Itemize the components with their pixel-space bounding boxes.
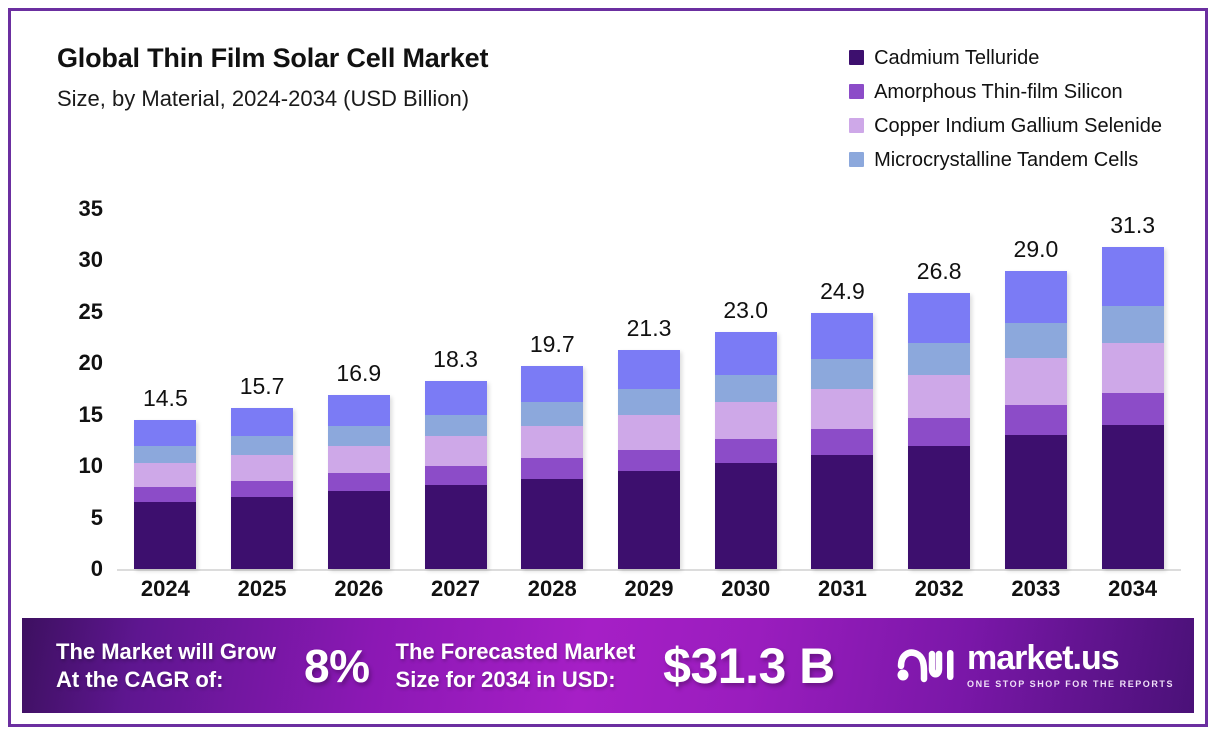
bar-segment[interactable] [134,487,196,502]
bar-column[interactable]: 18.3 [425,381,487,569]
bar-column[interactable]: 16.9 [328,395,390,569]
axis-baseline [117,569,1181,571]
legend-item-label: Cadmium Telluride [874,46,1039,70]
bar-segment[interactable] [811,429,873,455]
x-axis-tick: 2027 [431,576,480,602]
bar-segment[interactable] [425,381,487,415]
chart-frame: Global Thin Film Solar Cell Market Size,… [8,8,1208,727]
legend-item[interactable]: Cadmium Telluride [849,44,1039,71]
bar-segment[interactable] [618,450,680,472]
bar-stack[interactable] [134,420,196,569]
bar-segment[interactable] [1102,306,1164,343]
bar-value-label: 21.3 [627,315,672,342]
bar-segment[interactable] [231,481,293,497]
bar-value-label: 24.9 [820,278,865,305]
forecast-value: $31.3 B [663,637,835,695]
bar-segment[interactable] [908,343,970,375]
bar-segment[interactable] [715,402,777,439]
x-axis: 2024202520262027202820292030203120322033… [117,576,1165,616]
bar-segment[interactable] [811,455,873,569]
logo-tagline: ONE STOP SHOP FOR THE REPORTS [967,677,1174,691]
bar-stack[interactable] [231,408,293,569]
bar-stack[interactable] [1005,271,1067,569]
bar-segment[interactable] [521,426,583,458]
forecast-label-line1: The Forecasted Market [396,638,636,666]
x-axis-tick: 2024 [141,576,190,602]
bar-segment[interactable] [618,415,680,450]
x-axis-tick: 2032 [915,576,964,602]
legend-item-label: Microcrystalline Tandem Cells [874,148,1138,172]
bar-stack[interactable] [425,381,487,569]
bar-segment[interactable] [134,420,196,446]
bar-column[interactable]: 26.8 [908,293,970,569]
bar-segment[interactable] [328,395,390,426]
market-us-wordmark: market.us ONE STOP SHOP FOR THE REPORTS [967,641,1174,691]
bar-segment[interactable] [521,402,583,426]
bar-segment[interactable] [1102,343,1164,393]
bar-value-label: 15.7 [240,373,285,400]
bar-segment[interactable] [811,389,873,429]
bar-stack[interactable] [618,350,680,569]
bar-segment[interactable] [328,491,390,569]
bar-segment[interactable] [1102,425,1164,569]
bar-segment[interactable] [908,293,970,342]
bar-segment[interactable] [231,497,293,569]
bar-column[interactable]: 29.0 [1005,271,1067,569]
bar-segment[interactable] [1005,405,1067,435]
bar-segment[interactable] [908,418,970,446]
bar-value-label: 26.8 [917,258,962,285]
bar-stack[interactable] [521,366,583,569]
x-axis-tick: 2033 [1011,576,1060,602]
legend-item[interactable]: Amorphous Thin-film Silicon [849,78,1123,105]
cagr-value: 8% [304,639,369,693]
legend-item-label: Amorphous Thin-film Silicon [874,80,1123,104]
bar-value-label: 16.9 [336,360,381,387]
y-axis-tick: 5 [51,505,103,531]
x-axis-tick: 2034 [1108,576,1157,602]
legend-swatch-icon [849,152,864,167]
y-axis-tick: 20 [51,350,103,376]
chart-infographic: Global Thin Film Solar Cell Market Size,… [0,0,1216,735]
bar-segment[interactable] [521,366,583,402]
bar-segment[interactable] [425,436,487,466]
bar-column[interactable]: 14.5 [134,420,196,569]
y-axis-tick: 35 [51,196,103,222]
bar-stack[interactable] [1102,247,1164,569]
bar-segment[interactable] [231,408,293,437]
legend-item[interactable]: Microcrystalline Tandem Cells [849,146,1138,173]
y-axis: 05101520253035 [51,189,103,571]
bar-segment[interactable] [618,350,680,389]
bar-segment[interactable] [1102,247,1164,306]
summary-banner: The Market will Grow At the CAGR of: 8% … [22,618,1194,713]
x-axis-tick: 2029 [625,576,674,602]
bar-segment[interactable] [1005,435,1067,569]
legend-item[interactable]: Copper Indium Gallium Selenide [849,112,1162,139]
bar-stack[interactable] [715,332,777,569]
legend-swatch-icon [849,118,864,133]
bar-segment[interactable] [328,426,390,446]
x-axis-tick: 2026 [334,576,383,602]
y-axis-tick: 25 [51,299,103,325]
bar-column[interactable]: 19.7 [521,366,583,569]
bar-segment[interactable] [908,375,970,418]
page-title: Global Thin Film Solar Cell Market [57,41,757,75]
bar-value-label: 19.7 [530,331,575,358]
bar-segment[interactable] [715,375,777,403]
bar-value-label: 14.5 [143,385,188,412]
bar-segment[interactable] [811,313,873,359]
bar-segment[interactable] [328,446,390,474]
bar-segment[interactable] [134,446,196,463]
bar-segment[interactable] [1005,271,1067,323]
bar-segment[interactable] [811,359,873,389]
bars-area: 14.515.716.918.319.721.323.024.926.829.0… [117,189,1181,571]
bar-segment[interactable] [134,502,196,569]
y-axis-tick: 10 [51,453,103,479]
bar-segment[interactable] [134,463,196,487]
bar-column[interactable]: 15.7 [231,408,293,569]
bar-value-label: 29.0 [1014,236,1059,263]
bar-column[interactable]: 24.9 [811,313,873,569]
y-axis-tick: 30 [51,247,103,273]
bar-segment[interactable] [618,389,680,415]
chart-header: Global Thin Film Solar Cell Market Size,… [57,41,757,114]
x-axis-tick: 2030 [721,576,770,602]
cagr-label-line1: The Market will Grow [56,638,276,666]
bar-segment[interactable] [1005,358,1067,405]
bar-segment[interactable] [715,463,777,569]
bar-column[interactable]: 21.3 [618,350,680,569]
bar-value-label: 18.3 [433,346,478,373]
bar-segment[interactable] [1102,393,1164,425]
y-axis-tick: 0 [51,556,103,582]
bar-segment[interactable] [231,455,293,481]
bar-stack[interactable] [908,293,970,569]
bar-stack[interactable] [328,395,390,569]
bar-value-label: 31.3 [1110,212,1155,239]
cagr-label-line2: At the CAGR of: [56,666,276,694]
logo-word: market.us [967,641,1174,675]
chart-legend: Cadmium TellurideAmorphous Thin-film Sil… [849,44,1162,173]
bar-column[interactable]: 31.3 [1102,247,1164,569]
forecast-label: The Forecasted Market Size for 2034 in U… [396,638,636,694]
bar-segment[interactable] [715,332,777,374]
bar-stack[interactable] [811,313,873,569]
market-us-logo[interactable]: market.us ONE STOP SHOP FOR THE REPORTS [895,641,1174,691]
x-axis-tick: 2028 [528,576,577,602]
bar-segment[interactable] [425,466,487,485]
bar-segment[interactable] [231,436,293,455]
cagr-label: The Market will Grow At the CAGR of: [56,638,276,694]
bar-segment[interactable] [1005,323,1067,358]
bar-segment[interactable] [328,473,390,490]
market-us-logomark-icon [895,642,957,689]
x-axis-tick: 2031 [818,576,867,602]
legend-item-label: Copper Indium Gallium Selenide [874,114,1162,138]
bar-segment[interactable] [425,485,487,569]
bar-segment[interactable] [521,458,583,479]
legend-swatch-icon [849,50,864,65]
bar-segment[interactable] [715,439,777,463]
bar-segment[interactable] [618,471,680,569]
bar-segment[interactable] [425,415,487,437]
legend-swatch-icon [849,84,864,99]
bar-segment[interactable] [521,479,583,570]
bar-value-label: 23.0 [723,297,768,324]
bar-segment[interactable] [908,446,970,569]
forecast-label-line2: Size for 2034 in USD: [396,666,636,694]
y-axis-tick: 15 [51,402,103,428]
plot-area: 05101520253035 14.515.716.918.319.721.32… [51,189,1181,571]
page-subtitle: Size, by Material, 2024-2034 (USD Billio… [57,84,757,114]
x-axis-tick: 2025 [238,576,287,602]
bar-column[interactable]: 23.0 [715,332,777,569]
